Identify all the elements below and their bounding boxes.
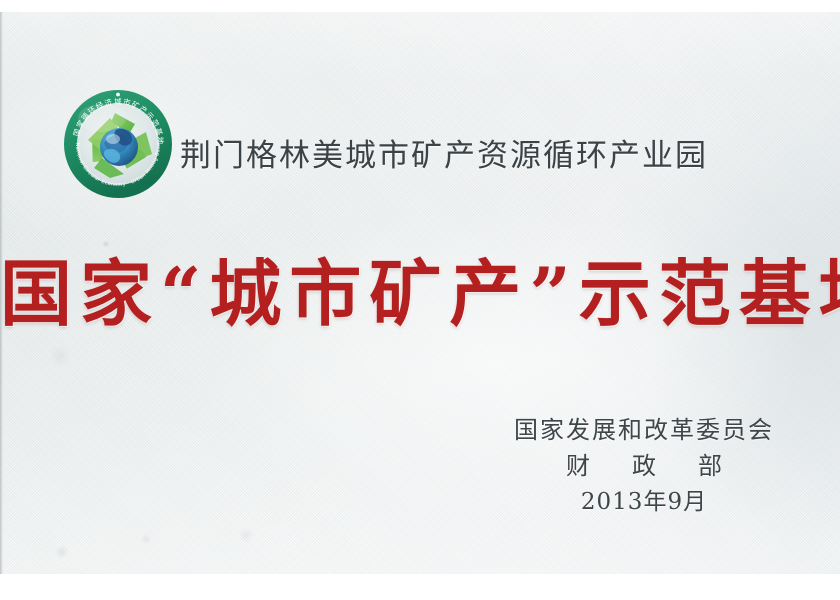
plaque-content: 国家循环经济 城市矿产示范基地 National Circular Econom… xyxy=(0,12,840,574)
issue-date: 2013年9月 xyxy=(494,484,794,520)
national-circular-economy-emblem-icon: 国家循环经济 城市矿产示范基地 National Circular Econom… xyxy=(62,88,174,200)
issuer-ndrc: 国家发展和改革委员会 xyxy=(494,412,794,448)
award-plaque: 国家循环经济 城市矿产示范基地 National Circular Econom… xyxy=(0,12,840,574)
issuer-mof: 财政部 xyxy=(494,448,794,484)
award-title: 国家“城市矿产”示范基地 xyxy=(0,250,840,338)
issuer-block: 国家发展和改革委员会 财政部 2013年9月 xyxy=(494,412,794,520)
park-name-heading: 荆门格林美城市矿产资源循环产业园 xyxy=(180,136,708,176)
